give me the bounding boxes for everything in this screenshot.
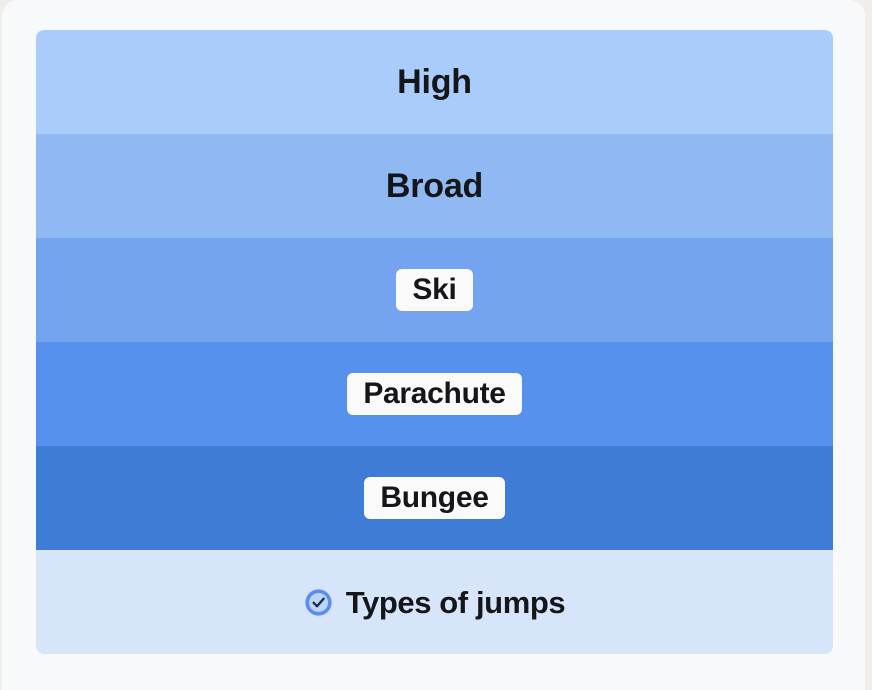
band-bungee[interactable]: Bungee bbox=[36, 446, 833, 550]
caption-label: Types of jumps bbox=[346, 587, 565, 618]
chip-bungee[interactable]: Bungee bbox=[364, 477, 504, 519]
check-circle-icon bbox=[304, 588, 333, 617]
band-parachute[interactable]: Parachute bbox=[36, 342, 833, 446]
chip-ski[interactable]: Ski bbox=[396, 269, 472, 311]
chip-label-ski: Ski bbox=[412, 275, 456, 305]
chip-parachute[interactable]: Parachute bbox=[347, 373, 521, 415]
band-high[interactable]: High bbox=[36, 30, 833, 134]
page-card: High Broad Ski Parachute Bungee bbox=[2, 0, 865, 690]
caption-band[interactable]: Types of jumps bbox=[36, 550, 833, 654]
band-label-high: High bbox=[397, 65, 472, 99]
jump-types-stack: High Broad Ski Parachute Bungee bbox=[36, 30, 833, 654]
chip-label-bungee: Bungee bbox=[380, 483, 488, 513]
band-broad[interactable]: Broad bbox=[36, 134, 833, 238]
band-label-broad: Broad bbox=[386, 169, 483, 203]
band-ski[interactable]: Ski bbox=[36, 238, 833, 342]
chip-label-parachute: Parachute bbox=[363, 379, 505, 409]
